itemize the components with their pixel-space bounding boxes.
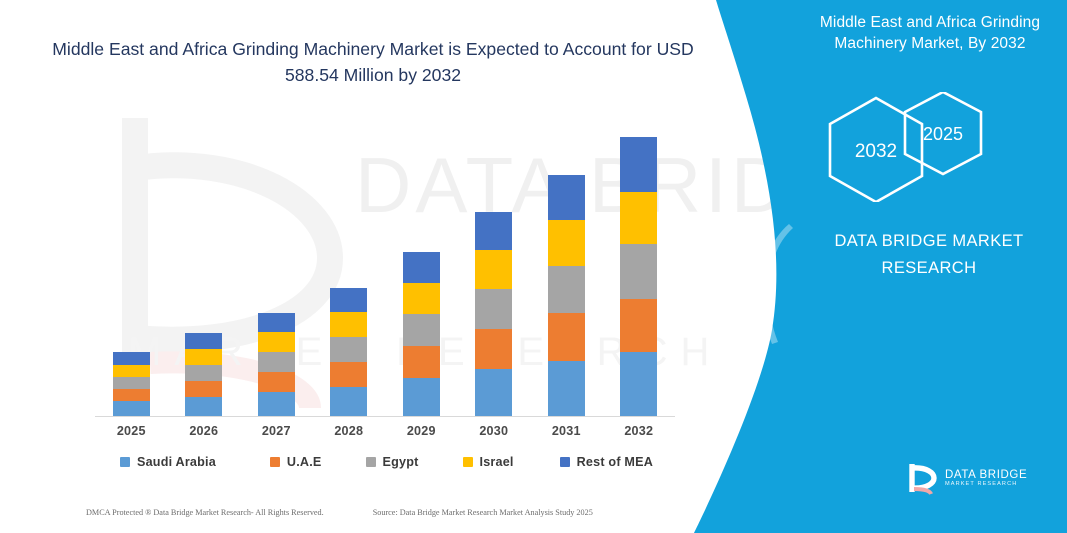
bar-column-2025[interactable]: [95, 110, 168, 416]
bar-segment-israel[interactable]: [330, 312, 367, 337]
legend-swatch-icon: [560, 457, 570, 467]
bridge-mark-icon: [905, 461, 939, 495]
bar-segment-rest-of-mea[interactable]: [403, 252, 440, 283]
bar-column-2030[interactable]: [458, 110, 531, 416]
x-axis-label-2027: 2027: [240, 424, 313, 438]
chart-legend: Saudi ArabiaU.A.EEgyptIsraelRest of MEA: [120, 455, 680, 469]
bar-segment-israel[interactable]: [548, 220, 585, 266]
legend-item-u-a-e[interactable]: U.A.E: [270, 455, 322, 469]
bar-segment-egypt[interactable]: [475, 289, 512, 329]
bar-segment-u-a-e[interactable]: [258, 372, 295, 392]
bar-segment-saudi-arabia[interactable]: [548, 361, 585, 416]
brand-name-line2: RESEARCH: [882, 259, 977, 277]
bar-segment-israel[interactable]: [403, 283, 440, 314]
bar-segment-u-a-e[interactable]: [548, 313, 585, 361]
stacked-bar[interactable]: [113, 352, 150, 416]
legend-swatch-icon: [120, 457, 130, 467]
side-panel: Middle East and Africa Grinding Machiner…: [790, 0, 1067, 533]
stacked-bar[interactable]: [548, 175, 585, 416]
stacked-bar[interactable]: [185, 333, 222, 416]
bar-segment-egypt[interactable]: [185, 365, 222, 381]
bar-segment-rest-of-mea[interactable]: [548, 175, 585, 220]
bar-segment-saudi-arabia[interactable]: [113, 401, 150, 416]
bar-column-2029[interactable]: [385, 110, 458, 416]
legend-swatch-icon: [366, 457, 376, 467]
stacked-bar[interactable]: [620, 137, 657, 416]
bar-segment-egypt[interactable]: [620, 244, 657, 299]
bar-segment-egypt[interactable]: [113, 377, 150, 389]
footer-copyright: DMCA Protected ® Data Bridge Market Rese…: [86, 508, 324, 517]
legend-swatch-icon: [270, 457, 280, 467]
footer-source: Source: Data Bridge Market Research Mark…: [373, 508, 593, 517]
legend-item-saudi-arabia[interactable]: Saudi Arabia: [120, 455, 216, 469]
bar-segment-israel[interactable]: [620, 192, 657, 244]
bar-segment-u-a-e[interactable]: [330, 362, 367, 387]
bar-segment-saudi-arabia[interactable]: [185, 397, 222, 416]
logo-line1: DATA BRIDGE: [945, 469, 1027, 481]
brand-name-line1: DATA BRIDGE MARKET: [834, 232, 1023, 250]
x-axis-label-2028: 2028: [313, 424, 386, 438]
legend-label: Egypt: [383, 455, 419, 469]
bar-segment-saudi-arabia[interactable]: [330, 387, 367, 416]
bar-segment-israel[interactable]: [475, 250, 512, 289]
bar-segment-u-a-e[interactable]: [620, 299, 657, 352]
bar-column-2032[interactable]: [603, 110, 676, 416]
stacked-bar[interactable]: [403, 252, 440, 416]
bar-segment-u-a-e[interactable]: [113, 389, 150, 401]
x-axis-label-2026: 2026: [168, 424, 241, 438]
bar-column-2026[interactable]: [168, 110, 241, 416]
bar-segment-u-a-e[interactable]: [475, 329, 512, 369]
x-axis-labels: 20252026202720282029203020312032: [95, 424, 675, 438]
bar-segment-u-a-e[interactable]: [403, 346, 440, 378]
logo-wordmark: DATA BRIDGE MARKET RESEARCH: [945, 469, 1027, 488]
bar-segment-rest-of-mea[interactable]: [113, 352, 150, 365]
bar-segment-egypt[interactable]: [258, 352, 295, 372]
hexagon-2032-label: 2032: [855, 141, 897, 162]
bar-segment-israel[interactable]: [185, 349, 222, 365]
infographic-canvas: DATA BRIDGE MARKET RESEARCH Middle East …: [0, 0, 1067, 533]
legend-swatch-icon: [463, 457, 473, 467]
logo-line2: MARKET RESEARCH: [945, 482, 1027, 488]
data-bridge-logo: DATA BRIDGE MARKET RESEARCH: [905, 455, 1040, 501]
bar-column-2028[interactable]: [313, 110, 386, 416]
x-axis-label-2031: 2031: [530, 424, 603, 438]
brand-name: DATA BRIDGE MARKET RESEARCH: [798, 228, 1060, 282]
x-axis-label-2029: 2029: [385, 424, 458, 438]
bar-segment-egypt[interactable]: [548, 266, 585, 313]
bar-series-group: [95, 110, 675, 416]
bar-segment-rest-of-mea[interactable]: [330, 288, 367, 312]
bar-segment-saudi-arabia[interactable]: [403, 378, 440, 416]
bar-segment-saudi-arabia[interactable]: [258, 392, 295, 416]
bar-segment-rest-of-mea[interactable]: [185, 333, 222, 349]
hexagon-2025-label: 2025: [923, 124, 963, 144]
legend-label: Saudi Arabia: [137, 455, 216, 469]
legend-item-israel[interactable]: Israel: [463, 455, 514, 469]
x-axis-label-2032: 2032: [603, 424, 676, 438]
legend-item-egypt[interactable]: Egypt: [366, 455, 419, 469]
bar-segment-egypt[interactable]: [330, 337, 367, 362]
x-axis-label-2030: 2030: [458, 424, 531, 438]
stacked-bar[interactable]: [258, 313, 295, 416]
bar-segment-rest-of-mea[interactable]: [258, 313, 295, 332]
bar-segment-rest-of-mea[interactable]: [475, 212, 512, 250]
plot-area: [95, 110, 675, 417]
bar-segment-israel[interactable]: [113, 365, 150, 377]
legend-label: Israel: [480, 455, 514, 469]
stacked-bar[interactable]: [330, 288, 367, 416]
x-axis-line: [95, 416, 675, 417]
bar-segment-saudi-arabia[interactable]: [620, 352, 657, 416]
bar-column-2027[interactable]: [240, 110, 313, 416]
bar-segment-u-a-e[interactable]: [185, 381, 222, 397]
stacked-bar[interactable]: [475, 212, 512, 416]
bar-segment-egypt[interactable]: [403, 314, 440, 346]
bar-column-2031[interactable]: [530, 110, 603, 416]
bar-segment-rest-of-mea[interactable]: [620, 137, 657, 192]
legend-item-rest-of-mea[interactable]: Rest of MEA: [560, 455, 653, 469]
bar-segment-saudi-arabia[interactable]: [475, 369, 512, 416]
x-axis-label-2025: 2025: [95, 424, 168, 438]
bar-segment-israel[interactable]: [258, 332, 295, 352]
side-panel-title: Middle East and Africa Grinding Machiner…: [796, 12, 1064, 54]
legend-label: U.A.E: [287, 455, 322, 469]
legend-label: Rest of MEA: [577, 455, 653, 469]
footer: DMCA Protected ® Data Bridge Market Rese…: [86, 508, 686, 517]
hexagon-badges: 2032 2025: [818, 92, 1048, 202]
chart-title: Middle East and Africa Grinding Machiner…: [48, 36, 698, 88]
